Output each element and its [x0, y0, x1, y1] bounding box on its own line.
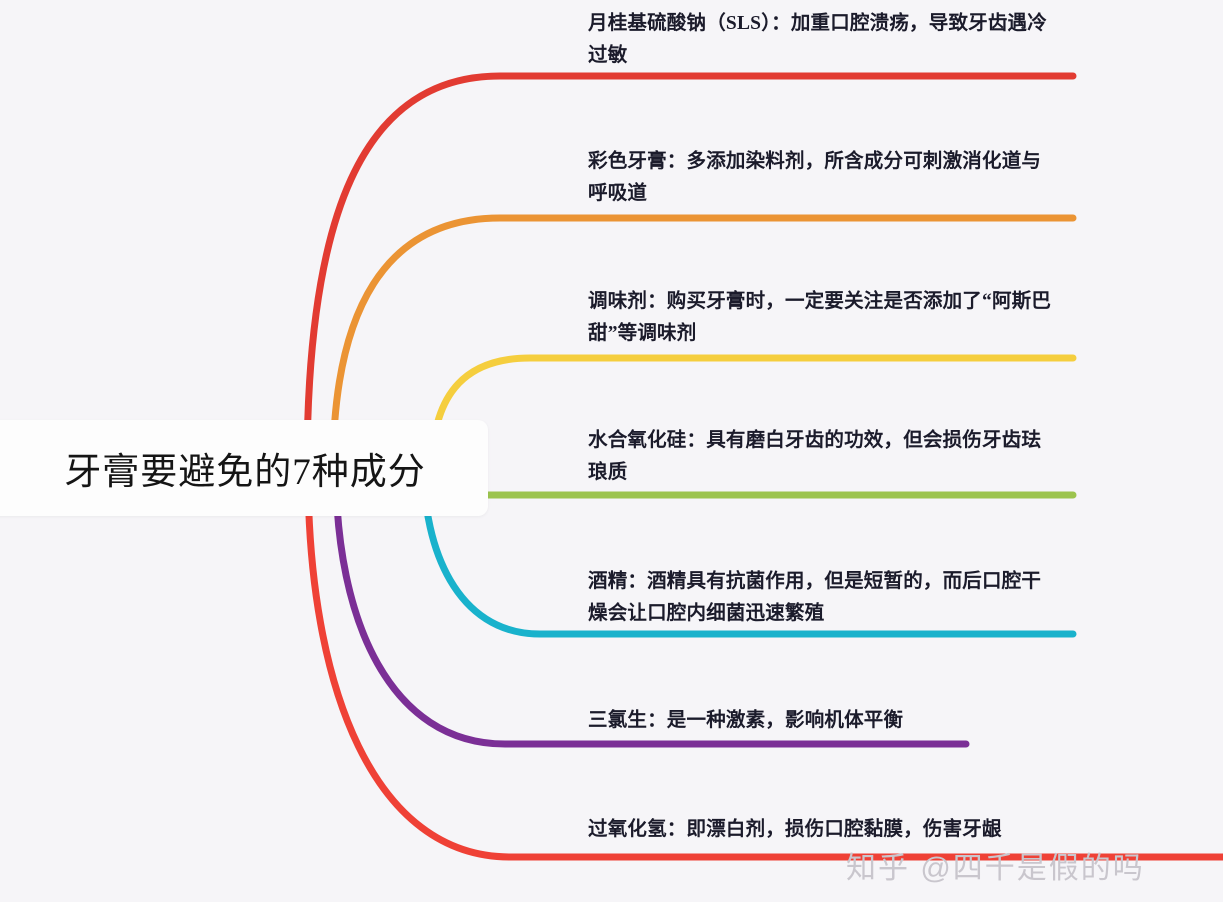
- topic-hydrated-silica-label: 水合氧化硅：具有磨白牙齿的功效，但会损伤牙齿珐琅质: [588, 425, 1058, 489]
- topic-sls[interactable]: 月桂基硫酸钠（SLS）：加重口腔溃疡，导致牙齿遇冷过敏: [588, 8, 1058, 72]
- topic-sls-label: 月桂基硫酸钠（SLS）：加重口腔溃疡，导致牙齿遇冷过敏: [588, 8, 1058, 72]
- topic-flavoring-agent-label: 调味剂：购买牙膏时，一定要关注是否添加了“阿斯巴甜”等调味剂: [588, 286, 1058, 350]
- topic-colored-toothpaste[interactable]: 彩色牙膏：多添加染料剂，所含成分可刺激消化道与呼吸道: [588, 146, 1058, 210]
- branch-curve-sls: [307, 76, 1073, 470]
- topic-hydrated-silica[interactable]: 水合氧化硅：具有磨白牙齿的功效，但会损伤牙齿珐琅质: [588, 425, 1058, 489]
- topic-hydrogen-peroxide[interactable]: 过氧化氢：即漂白剂，损伤口腔黏膜，伤害牙龈: [588, 814, 1058, 846]
- center-node[interactable]: 牙膏要避免的7种成分: [0, 420, 488, 516]
- topic-alcohol-label: 酒精：酒精具有抗菌作用，但是短暂的，而后口腔干燥会让口腔内细菌迅速繁殖: [588, 566, 1058, 630]
- topic-colored-toothpaste-label: 彩色牙膏：多添加染料剂，所含成分可刺激消化道与呼吸道: [588, 146, 1058, 210]
- topic-alcohol[interactable]: 酒精：酒精具有抗菌作用，但是短暂的，而后口腔干燥会让口腔内细菌迅速繁殖: [588, 566, 1058, 630]
- branch-curve-hydrogen-peroxide: [308, 470, 1223, 857]
- mindmap-canvas: 牙膏要避免的7种成分 月桂基硫酸钠（SLS）：加重口腔溃疡，导致牙齿遇冷过敏 彩…: [0, 0, 1223, 902]
- topic-triclosan-label: 三氯生：是一种激素，影响机体平衡: [588, 705, 1058, 737]
- watermark: 知乎 @四千是假的吗: [846, 843, 1145, 887]
- center-node-label: 牙膏要避免的7种成分: [50, 441, 426, 495]
- topic-triclosan[interactable]: 三氯生：是一种激素，影响机体平衡: [588, 705, 1058, 737]
- topic-hydrogen-peroxide-label: 过氧化氢：即漂白剂，损伤口腔黏膜，伤害牙龈: [588, 814, 1058, 846]
- topic-flavoring-agent[interactable]: 调味剂：购买牙膏时，一定要关注是否添加了“阿斯巴甜”等调味剂: [588, 286, 1058, 350]
